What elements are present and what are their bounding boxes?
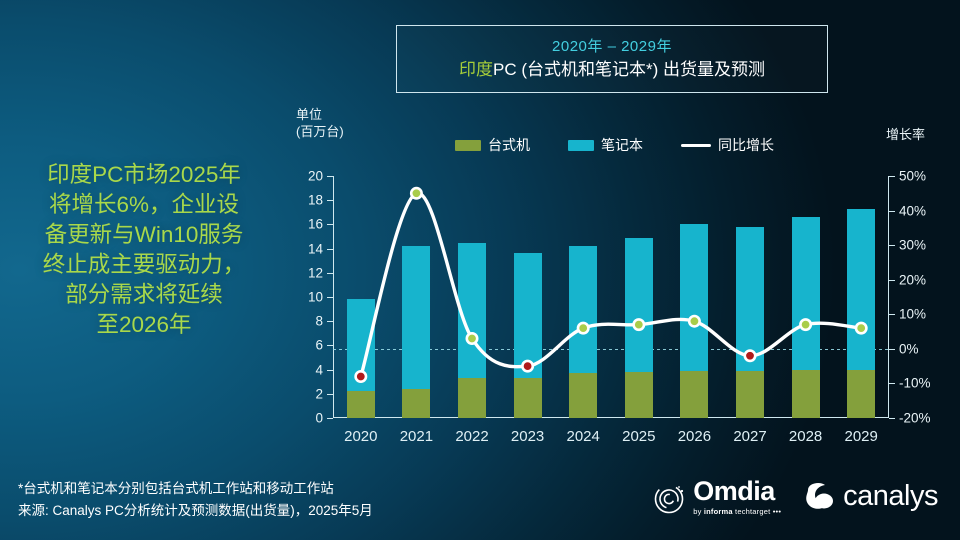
growth-marker-2021 <box>411 188 421 198</box>
y2-tick-label: 10% <box>899 307 926 322</box>
x-tick-label-2029: 2029 <box>845 428 878 445</box>
y-axis-unit-label: 单位 (百万台) <box>296 106 344 140</box>
legend-item-desktop: 台式机 <box>455 135 530 155</box>
omdia-tagline: by informa techtarget ••• <box>693 508 781 516</box>
y-tick <box>327 297 333 298</box>
chart-plot-area: 02468101214161820 -20%-10%0%10%20%30%40%… <box>333 176 889 418</box>
y2-tick <box>889 314 895 315</box>
title-main: 印度PC (台式机和笔记本*) 出货量及预测 <box>459 58 765 82</box>
y2-tick <box>889 418 895 419</box>
desktop-swatch <box>455 140 481 151</box>
x-tick-label-2028: 2028 <box>789 428 822 445</box>
headline-line-4: 部分需求将延续 <box>8 280 280 310</box>
headline-line-2: 备更新与Win10服务 <box>8 220 280 250</box>
y2-axis-title: 增长率 <box>886 124 925 143</box>
y-tick <box>327 345 333 346</box>
y-tick-label: 0 <box>315 411 323 426</box>
y2-tick <box>889 280 895 281</box>
y-tick-label: 18 <box>308 193 323 208</box>
y-tick-label: 14 <box>308 241 323 256</box>
headline-line-3: 终止成主要驱动力， <box>8 250 280 280</box>
x-tick-label-2020: 2020 <box>344 428 377 445</box>
y2-tick-label: -10% <box>899 376 931 391</box>
y-tick <box>327 394 333 395</box>
omdia-tagline-prefix: by <box>693 507 704 516</box>
y-tick <box>327 224 333 225</box>
y-tick-label: 2 <box>315 386 323 401</box>
y-tick <box>327 321 333 322</box>
omdia-logo: Omdia by informa techtarget ••• <box>652 478 781 516</box>
growth-marker-2027 <box>745 351 755 361</box>
title-card: 2020年 – 2029年 印度PC (台式机和笔记本*) 出货量及预测 <box>396 25 828 93</box>
growth-marker-2020 <box>356 371 366 381</box>
growth-marker-2029 <box>856 323 866 333</box>
y-tick-label: 4 <box>315 362 323 377</box>
y2-tick-label: 40% <box>899 203 926 218</box>
y-tick <box>327 176 333 177</box>
growth-line-layer <box>333 176 889 418</box>
omdia-tagline-rest: techtarget <box>733 507 771 516</box>
x-tick-label-2023: 2023 <box>511 428 544 445</box>
growth-marker-2026 <box>689 316 699 326</box>
y-axis-unit-line1: 单位 <box>296 106 344 123</box>
footer-notes: *台式机和笔记本分别包括台式机工作站和移动工作站 来源: Canalys PC分… <box>18 478 373 522</box>
growth-marker-2024 <box>578 323 588 333</box>
headline-line-0: 印度PC市场2025年 <box>8 160 280 190</box>
y-tick-label: 12 <box>308 265 323 280</box>
y-tick <box>327 370 333 371</box>
footnote-definition: *台式机和笔记本分别包括台式机工作站和移动工作站 <box>18 478 373 500</box>
growth-marker-2025 <box>634 319 644 329</box>
y2-tick-label: -20% <box>899 411 931 426</box>
omdia-tagline-brand: informa <box>704 507 733 516</box>
y2-tick-label: 0% <box>899 341 919 356</box>
title-year-range: 2020年 – 2029年 <box>552 37 672 57</box>
y2-tick <box>889 383 895 384</box>
y2-tick <box>889 245 895 246</box>
y-tick-label: 10 <box>308 290 323 305</box>
growth-line-swatch <box>681 144 711 147</box>
logo-group: Omdia by informa techtarget ••• canalys <box>652 478 938 516</box>
canalys-mark-icon <box>803 481 837 513</box>
headline-line-5: 至2026年 <box>8 310 280 340</box>
omdia-mark-icon <box>652 482 686 516</box>
headline-line-1: 将增长6%，企业设 <box>8 190 280 220</box>
y-tick <box>327 249 333 250</box>
chart-legend: 台式机 笔记本 同比增长 <box>455 135 774 155</box>
legend-label-growth: 同比增长 <box>718 135 774 155</box>
x-tick-label-2024: 2024 <box>567 428 600 445</box>
growth-marker-2023 <box>522 361 532 371</box>
x-tick-label-2026: 2026 <box>678 428 711 445</box>
x-tick-label-2021: 2021 <box>400 428 433 445</box>
x-tick-label-2025: 2025 <box>622 428 655 445</box>
growth-marker-2022 <box>467 333 477 343</box>
title-main-highlight: 印度 <box>459 60 493 79</box>
y2-tick <box>889 176 895 177</box>
legend-item-growth: 同比增长 <box>681 135 774 155</box>
x-tick-label-2027: 2027 <box>733 428 766 445</box>
footnote-source: 来源: Canalys PC分析统计及预测数据(出货量)，2025年5月 <box>18 500 373 522</box>
y2-tick-label: 50% <box>899 169 926 184</box>
canalys-name: canalys <box>843 480 938 513</box>
y-tick <box>327 418 333 419</box>
canalys-logo: canalys <box>803 480 938 513</box>
y2-tick-label: 20% <box>899 272 926 287</box>
y-tick-label: 20 <box>308 169 323 184</box>
y2-tick-label: 30% <box>899 238 926 253</box>
legend-label-desktop: 台式机 <box>488 135 530 155</box>
omdia-wordmark: Omdia by informa techtarget ••• <box>693 478 781 516</box>
headline-block: 印度PC市场2025年 将增长6%，企业设 备更新与Win10服务 终止成主要驱… <box>8 160 280 340</box>
y-axis-unit-line2: (百万台) <box>296 123 344 140</box>
x-tick-label-2022: 2022 <box>455 428 488 445</box>
y-tick <box>327 273 333 274</box>
legend-item-notebook: 笔记本 <box>568 135 643 155</box>
growth-marker-2028 <box>800 319 810 329</box>
growth-line-path <box>361 193 861 376</box>
y-tick-label: 16 <box>308 217 323 232</box>
slide-root: 2020年 – 2029年 印度PC (台式机和笔记本*) 出货量及预测 印度P… <box>0 0 960 540</box>
notebook-swatch <box>568 140 594 151</box>
y-tick <box>327 200 333 201</box>
y-tick-label: 6 <box>315 338 323 353</box>
omdia-name: Omdia <box>693 478 781 505</box>
y-tick-label: 8 <box>315 314 323 329</box>
title-main-rest: PC (台式机和笔记本*) 出货量及预测 <box>493 60 765 79</box>
legend-label-notebook: 笔记本 <box>601 135 643 155</box>
y2-tick <box>889 211 895 212</box>
y2-tick <box>889 349 895 350</box>
